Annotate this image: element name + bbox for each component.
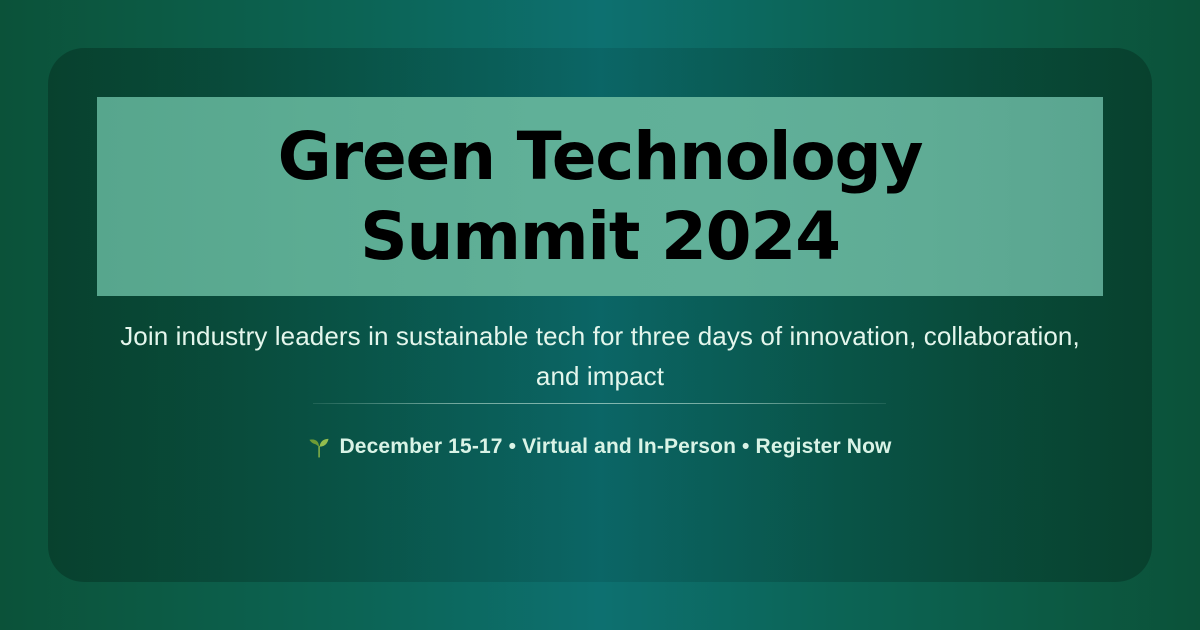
seedling-icon — [308, 435, 330, 459]
event-meta: December 15-17 • Virtual and In-Person •… — [100, 433, 1100, 461]
poster-canvas: { "poster": { "title_lines": ["Green Tec… — [0, 0, 1200, 630]
poster-card: Green Technology Summit 2024 Join indust… — [48, 48, 1152, 582]
page-title-line-2: Summit 2024 — [360, 197, 840, 277]
event-meta-text: December 15-17 • Virtual and In-Person •… — [339, 433, 891, 461]
page-title-line-1: Green Technology — [278, 117, 923, 197]
title-band: Green Technology Summit 2024 — [97, 97, 1103, 296]
poster-subtitle: Join industry leaders in sustainable tec… — [100, 316, 1100, 396]
section-divider — [313, 403, 886, 404]
